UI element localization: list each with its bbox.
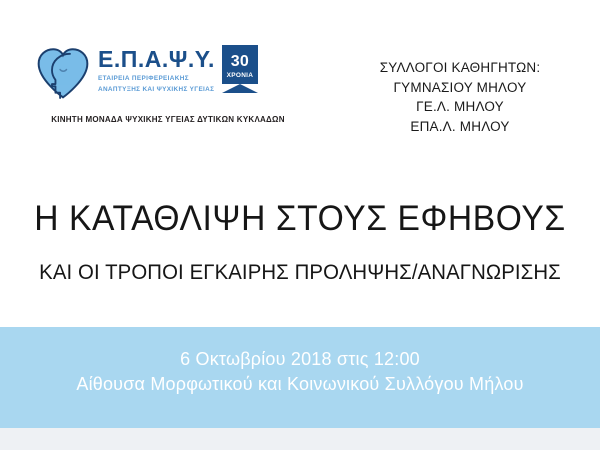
event-date-time: 6 Οκτωβρίου 2018 στις 12:00 bbox=[0, 347, 600, 372]
associations-line-4: ΕΠΑ.Λ. ΜΗΛΟΥ bbox=[340, 117, 580, 137]
wordmark: Ε.Π.Α.Ψ.Υ. ΕΤΑΙΡΕΙΑ ΠΕΡΙΦΕΡΕΙΑΚΗΣ ΑΝΑΠΤΥ… bbox=[98, 42, 215, 94]
poster-main-title: Η ΚΑΤΑΘΛΙΨΗ ΣΤΟΥΣ ΕΦΗΒΟΥΣ bbox=[12, 200, 588, 239]
organization-logo-block: Ε.Π.Α.Ψ.Υ. ΕΤΑΙΡΕΙΑ ΠΕΡΙΦΕΡΕΙΑΚΗΣ ΑΝΑΠΤΥ… bbox=[34, 42, 304, 124]
tagline-line-1: ΕΤΑΙΡΕΙΑ ΠΕΡΙΦΕΡΕΙΑΚΗΣ bbox=[98, 74, 215, 84]
event-poster: Ε.Π.Α.Ψ.Υ. ΕΤΑΙΡΕΙΑ ΠΕΡΙΦΕΡΕΙΑΚΗΣ ΑΝΑΠΤΥ… bbox=[0, 0, 600, 450]
event-venue: Αίθουσα Μορφωτικού και Κοινωνικού Συλλόγ… bbox=[0, 372, 600, 397]
poster-subtitle: ΚΑΙ ΟΙ ΤΡΟΠΟΙ ΕΓΚΑΙΡΗΣ ΠΡΟΛΗΨΗΣ/ΑΝΑΓΝΩΡΙ… bbox=[9, 261, 591, 285]
organization-tagline: ΕΤΑΙΡΕΙΑ ΠΕΡΙΦΕΡΕΙΑΚΗΣ ΑΝΑΠΤΥΞΗΣ ΚΑΙ ΨΥΧ… bbox=[98, 74, 215, 94]
anniversary-label: ΧΡΟΝΙΑ bbox=[222, 73, 258, 80]
organization-acronym: Ε.Π.Α.Ψ.Υ. bbox=[98, 48, 215, 71]
associations-block: ΣΥΛΛΟΓΟΙ ΚΑΘΗΓΗΤΩΝ: ΓΥΜΝΑΣΙΟΥ ΜΗΛΟΥ ΓΕ.Λ… bbox=[340, 58, 580, 136]
title-area: Η ΚΑΤΑΘΛΙΨΗ ΣΤΟΥΣ ΕΦΗΒΟΥΣ ΚΑΙ ΟΙ ΤΡΟΠΟΙ … bbox=[0, 200, 600, 285]
anniversary-ribbon-badge: 30 ΧΡΟΝΙΑ bbox=[222, 45, 258, 93]
footer-strip bbox=[0, 428, 600, 450]
logo-row: Ε.Π.Α.Ψ.Υ. ΕΤΑΙΡΕΙΑ ΠΕΡΙΦΕΡΕΙΑΚΗΣ ΑΝΑΠΤΥ… bbox=[34, 42, 304, 108]
mobile-unit-caption: ΚΙΝΗΤΗ ΜΟΝΑΔΑ ΨΥΧΙΚΗΣ ΥΓΕΙΑΣ ΔΥΤΙΚΩΝ ΚΥΚ… bbox=[34, 115, 302, 124]
poster-header: Ε.Π.Α.Ψ.Υ. ΕΤΑΙΡΕΙΑ ΠΕΡΙΦΕΡΕΙΑΚΗΣ ΑΝΑΠΤΥ… bbox=[0, 0, 600, 150]
event-details-band: 6 Οκτωβρίου 2018 στις 12:00 Αίθουσα Μορφ… bbox=[0, 327, 600, 428]
anniversary-number: 30 bbox=[222, 45, 258, 70]
associations-line-1: ΣΥΛΛΟΓΟΙ ΚΑΘΗΓΗΤΩΝ: bbox=[340, 58, 580, 78]
associations-line-2: ΓΥΜΝΑΣΙΟΥ ΜΗΛΟΥ bbox=[340, 78, 580, 98]
heart-head-profile-logo-icon bbox=[34, 44, 92, 102]
tagline-line-2: ΑΝΑΠΤΥΞΗΣ ΚΑΙ ΨΥΧΙΚΗΣ ΥΓΕΙΑΣ bbox=[98, 85, 215, 95]
associations-line-3: ΓΕ.Λ. ΜΗΛΟΥ bbox=[340, 97, 580, 117]
